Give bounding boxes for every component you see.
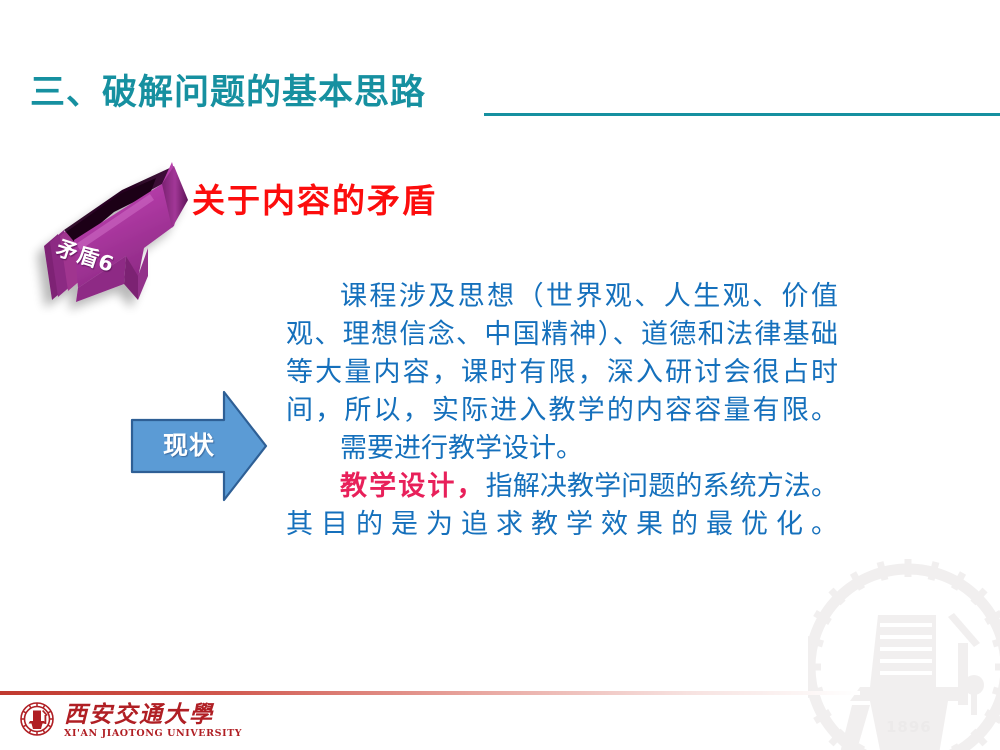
xjtu-emblem-watermark: 1896 bbox=[808, 555, 1000, 750]
blue-arrow-callout: 现状 bbox=[128, 388, 270, 504]
footer-logo-en: XI'AN JIAOTONG UNIVERSITY bbox=[64, 729, 242, 739]
body-paragraph-2: 需要进行教学设计。 bbox=[286, 430, 838, 468]
purple-arrow-callout: 矛盾6 bbox=[22, 148, 202, 318]
title-underline-rule bbox=[484, 113, 1000, 116]
watermark-year: 1896 bbox=[886, 718, 932, 736]
body-paragraph-1: 课程涉及思想（世界观、人生观、价值观、理想信念、中国精神）、道德和法律基础等大量… bbox=[286, 278, 838, 430]
xjtu-emblem-watermark-icon bbox=[808, 555, 1000, 750]
arrow-right-icon bbox=[128, 388, 270, 504]
slide-canvas: 三、破解问题的基本思路 bbox=[0, 0, 1000, 750]
paragraph-2-run-1: 需要进行教学设计。 bbox=[340, 433, 583, 464]
footer-divider-rule bbox=[0, 691, 860, 695]
footer-logo: 西安交通大學 XI'AN JIAOTONG UNIVERSITY bbox=[18, 700, 242, 742]
body-text-block: 课程涉及思想（世界观、人生观、价值观、理想信念、中国精神）、道德和法律基础等大量… bbox=[286, 278, 838, 544]
section-subheading: 关于内容的矛盾 bbox=[192, 174, 437, 222]
xjtu-emblem-icon bbox=[18, 700, 56, 742]
page-title: 三、破解问题的基本思路 bbox=[30, 72, 426, 114]
body-paragraph-3: 教学设计，指解决教学问题的系统方法。其目的是为追求教学效果的最优化。 bbox=[286, 468, 838, 544]
paragraph-1-run-1: 课程涉及思想（世界观、人生观、价值观、理想信念、中国精神）、道德和法律基础等大量… bbox=[286, 281, 838, 426]
arrow-right-3d-icon bbox=[22, 148, 202, 318]
footer-logo-cn: 西安交通大學 bbox=[64, 703, 242, 726]
paragraph-3-highlight-run: 教学设计， bbox=[340, 471, 486, 502]
